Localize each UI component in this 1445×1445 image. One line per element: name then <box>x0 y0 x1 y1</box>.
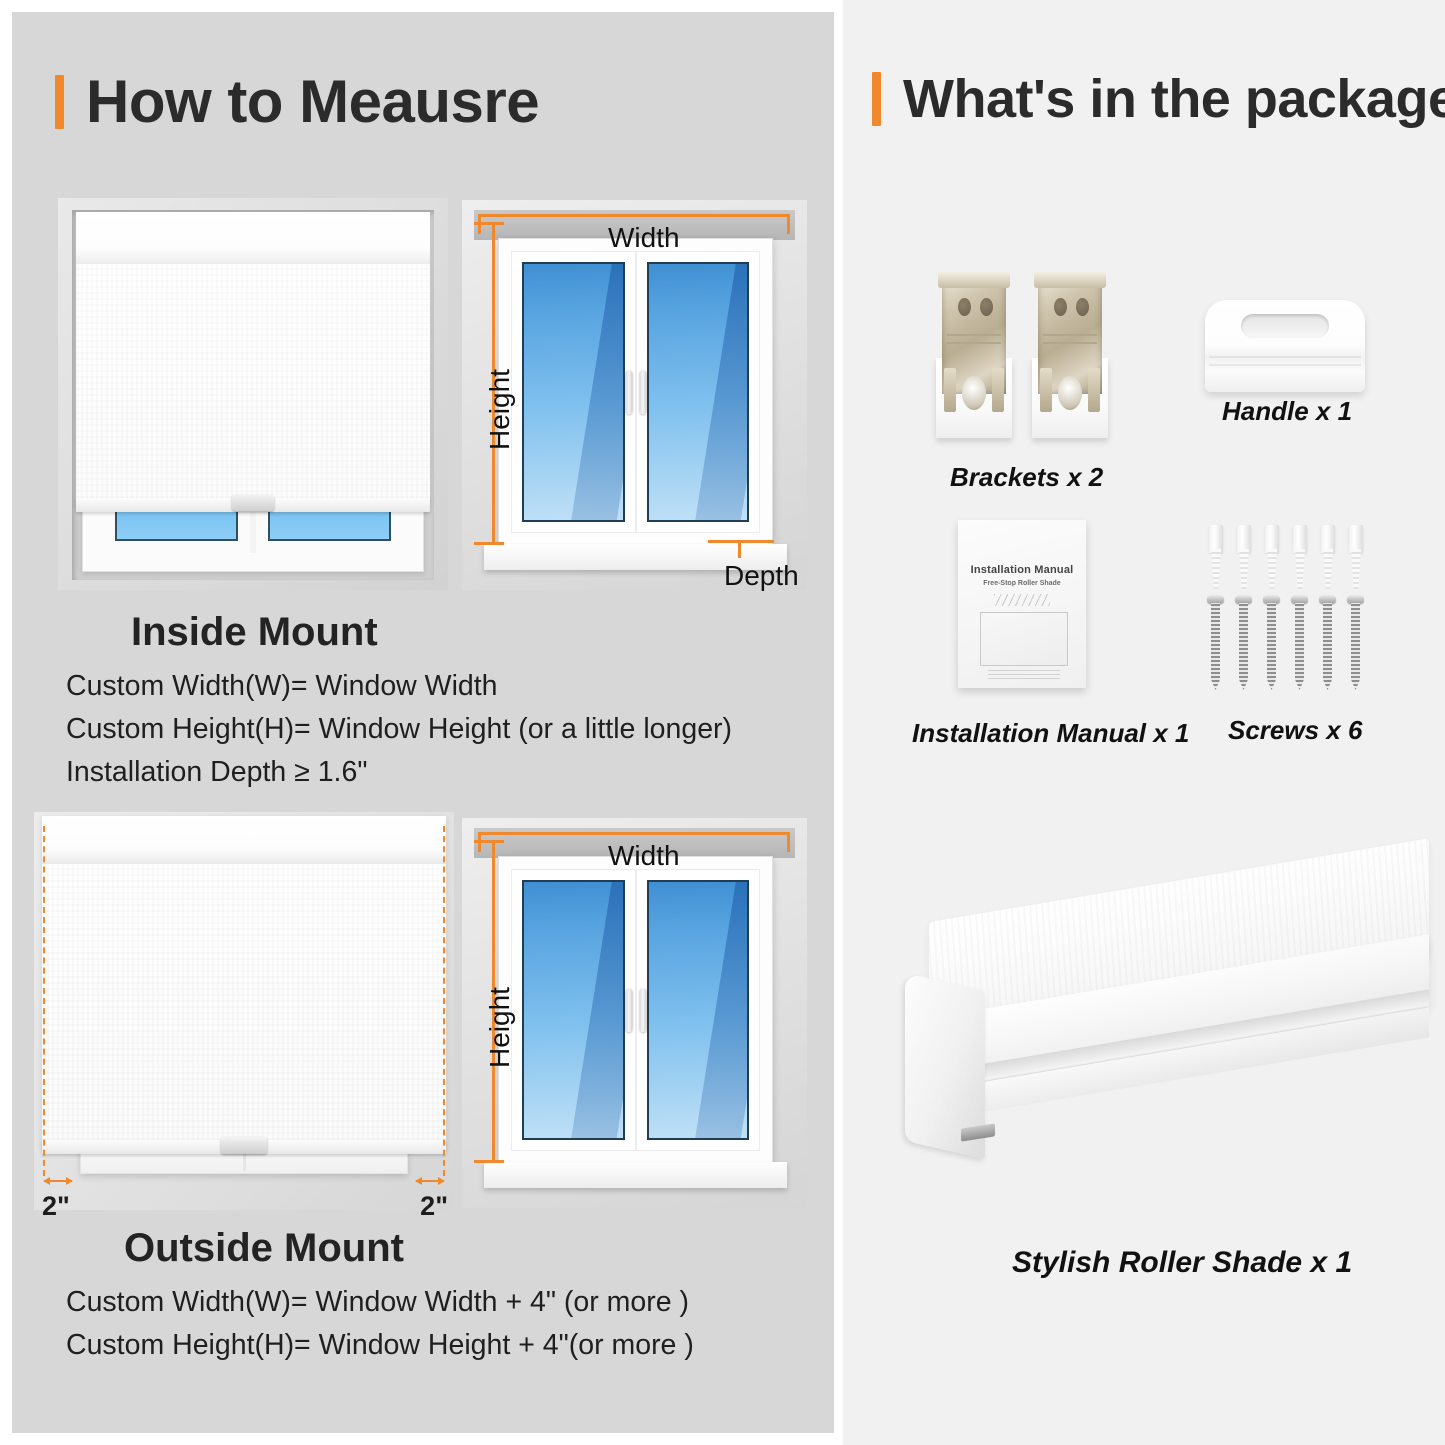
package-title: What's in the package <box>903 72 1445 126</box>
bracket-stripe <box>947 342 1001 344</box>
bracket-hole <box>980 298 993 316</box>
bracket-unit <box>936 272 1012 447</box>
glass-pane-left <box>522 262 625 522</box>
wall-anchor <box>1347 525 1365 589</box>
screw-icon <box>1205 525 1375 690</box>
outside-mount-window-diagram: Width Height <box>462 818 807 1208</box>
inside-mount-shade-illustration <box>58 198 448 590</box>
accent-bar-icon <box>872 72 881 126</box>
depth-measure-line <box>708 540 774 543</box>
bracket-clip-right <box>1088 368 1100 412</box>
window-sash-right <box>636 251 761 533</box>
outside-mount-spec-line: Custom Height(H)= Window Height + 4"(or … <box>66 1327 694 1364</box>
inside-mount-specs: Custom Width(W)= Window Width Custom Hei… <box>66 668 732 797</box>
screw <box>1319 594 1336 690</box>
manual-cover-subtitle: Free-Stop Roller Shade <box>958 580 1086 587</box>
width-measure-line <box>478 214 790 217</box>
bracket-icon <box>936 272 1116 447</box>
bracket-center-slot <box>1058 376 1082 410</box>
bracket-top-flange <box>1034 272 1106 288</box>
glass-pane-left <box>522 880 625 1140</box>
bracket-top-flange <box>938 272 1010 288</box>
bracket-hole <box>1054 298 1067 316</box>
height-measure-cap-top <box>474 840 504 843</box>
shade-fabric <box>42 864 446 1146</box>
how-to-measure-title: How to Meausre <box>86 72 539 132</box>
manual-cover-figure <box>980 612 1068 666</box>
wall-anchor <box>1291 525 1309 589</box>
inside-mount-spec-line: Custom Width(W)= Window Width <box>66 668 732 705</box>
window-handle-left <box>625 370 632 414</box>
installation-manual-label: Installation Manual x 1 <box>912 718 1189 749</box>
outside-mount-title: Outside Mount <box>124 1226 404 1271</box>
window-sash-right <box>636 869 761 1151</box>
shade-pull-handle <box>221 1137 267 1154</box>
window-sill <box>484 1162 787 1188</box>
window-sash-left <box>511 869 636 1151</box>
manual-cover-scribble <box>994 594 1050 606</box>
width-label: Width <box>608 840 680 872</box>
bracket-clip-left <box>1040 368 1052 412</box>
wall-anchor <box>1319 525 1337 589</box>
inside-mount-spec-line: Custom Height(H)= Window Height (or a li… <box>66 711 732 748</box>
height-measure-cap-bottom <box>474 542 504 545</box>
infographic-poster: How to Meausre <box>0 0 1445 1445</box>
accent-bar-icon <box>55 75 64 129</box>
width-label: Width <box>608 222 680 254</box>
shade-headrail <box>42 816 446 865</box>
depth-label: Depth <box>724 560 799 592</box>
handle-label: Handle x 1 <box>1222 396 1352 427</box>
bracket-hole <box>958 298 971 316</box>
brackets-label: Brackets x 2 <box>950 462 1103 493</box>
roller-shade-icon <box>905 900 1425 1220</box>
shade-fabric <box>76 264 430 504</box>
inside-mount-title: Inside Mount <box>131 610 378 655</box>
screw <box>1347 594 1364 690</box>
overhang-guide-left <box>43 826 45 1176</box>
screws-label: Screws x 6 <box>1228 715 1362 746</box>
height-measure-cap-top <box>474 222 504 225</box>
overhang-label-right: 2" <box>420 1191 448 1222</box>
overhang-guide-right <box>443 826 445 1176</box>
inside-mount-window-diagram: Width Height Depth <box>462 200 807 590</box>
wall-anchor <box>1263 525 1281 589</box>
left-white-margin <box>0 0 12 1445</box>
window-frame <box>498 238 773 546</box>
bracket-stripe <box>1043 342 1097 344</box>
overhang-arrow-right <box>416 1180 444 1182</box>
window-handle-right <box>639 988 646 1032</box>
screw <box>1263 594 1280 690</box>
outside-mount-shade-illustration: 2" 2" <box>34 812 454 1210</box>
shade-headrail <box>76 212 430 265</box>
bracket-stripe <box>947 334 1001 336</box>
height-label: Height <box>484 369 516 450</box>
outside-mount-specs: Custom Width(W)= Window Width + 4" (or m… <box>66 1284 694 1370</box>
manual-cover-title: Installation Manual <box>958 564 1086 576</box>
height-label: Height <box>484 987 516 1068</box>
screw <box>1207 594 1224 690</box>
bracket-hole <box>1076 298 1089 316</box>
bracket-stripe <box>1043 334 1097 336</box>
window-handles <box>625 370 646 414</box>
manual-cover-footer-lines <box>988 670 1060 679</box>
screw <box>1235 594 1252 690</box>
width-measure-cap-right <box>787 214 790 234</box>
manual-icon: Installation Manual Free-Stop Roller Sha… <box>958 520 1086 688</box>
window-handle-left <box>625 988 632 1032</box>
width-measure-cap-right <box>787 832 790 852</box>
roller-shade-label: Stylish Roller Shade x 1 <box>1012 1246 1352 1280</box>
window-frame <box>498 856 773 1164</box>
overhang-arrow-left <box>44 1180 72 1182</box>
bracket-clip-right <box>992 368 1004 412</box>
window-handle-right <box>639 370 646 414</box>
depth-measure-tick <box>738 540 741 558</box>
height-measure-cap-bottom <box>474 1160 504 1163</box>
handle-ridge <box>1209 356 1361 358</box>
bracket-clip-left <box>944 368 956 412</box>
glass-pane-right <box>647 262 750 522</box>
package-heading: What's in the package <box>872 72 1445 126</box>
shade-pull-handle <box>232 495 274 511</box>
width-measure-line <box>478 832 790 835</box>
handle-icon <box>1205 300 1365 392</box>
wall-anchor <box>1207 525 1225 589</box>
window-sash-left <box>511 251 636 533</box>
how-to-measure-heading: How to Meausre <box>55 72 539 132</box>
handle-slot <box>1241 314 1329 338</box>
overhang-label-left: 2" <box>42 1191 70 1222</box>
bracket-center-slot <box>962 376 986 410</box>
glass-pane-right <box>647 880 750 1140</box>
handle-ridge <box>1209 364 1361 366</box>
window-handles <box>625 988 646 1032</box>
outside-mount-spec-line: Custom Width(W)= Window Width + 4" (or m… <box>66 1284 694 1321</box>
bracket-unit <box>1032 272 1108 447</box>
inside-mount-spec-line: Installation Depth ≥ 1.6" <box>66 754 732 791</box>
screw <box>1291 594 1308 690</box>
wall-anchor <box>1235 525 1253 589</box>
